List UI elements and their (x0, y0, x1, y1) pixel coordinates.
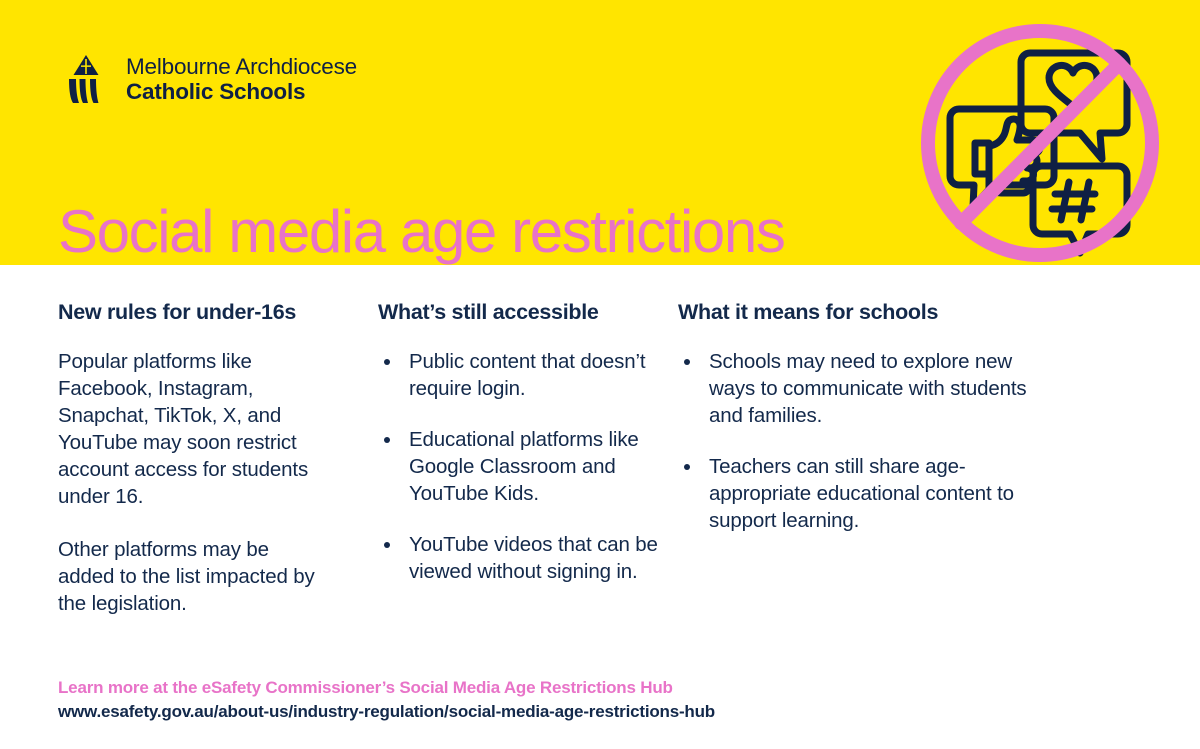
column-heading: What’s still accessible (378, 300, 660, 326)
column-still-accessible: What’s still accessible Public content t… (340, 300, 670, 585)
bullet-list: Schools may need to explore new ways to … (678, 348, 1030, 534)
column-paragraph: Popular platforms like Facebook, Instagr… (58, 348, 330, 510)
list-item-text: YouTube videos that can be viewed withou… (409, 533, 658, 583)
list-item: Teachers can still share age-appropriate… (678, 453, 1030, 534)
no-social-media-illustration-svg (913, 18, 1171, 276)
list-item: Schools may need to explore new ways to … (678, 348, 1030, 429)
list-item: YouTube videos that can be viewed withou… (378, 531, 660, 585)
no-social-media-illustration (913, 18, 1171, 276)
bullet-dot-icon (684, 464, 690, 470)
brand-logo-lockup: Melbourne Archdiocese Catholic Schools (60, 53, 357, 105)
macs-flame-m-logo-icon (60, 53, 112, 105)
list-item-text: Public content that doesn’t require logi… (409, 350, 645, 400)
bullet-dot-icon (384, 542, 390, 548)
page-title: Social media age restrictions (58, 200, 784, 263)
column-heading: New rules for under-16s (58, 300, 330, 326)
list-item: Public content that doesn’t require logi… (378, 348, 660, 402)
prohibition-circle-slash (928, 31, 1152, 255)
column-heading: What it means for schools (678, 300, 1030, 326)
bullet-dot-icon (384, 359, 390, 365)
list-item-text: Teachers can still share age-appropriate… (709, 455, 1014, 532)
list-item-text: Schools may need to explore new ways to … (709, 350, 1027, 427)
footer-lead-text: Learn more at the eSafety Commissioner’s… (58, 676, 715, 701)
speech-bubble-hashtag-icon (1033, 166, 1127, 253)
content-columns: New rules for under-16s Popular platform… (0, 300, 1200, 617)
bullet-dot-icon (384, 437, 390, 443)
speech-bubble-thumbs-up-icon (950, 109, 1054, 207)
footer: Learn more at the eSafety Commissioner’s… (58, 676, 715, 725)
list-item-text: Educational platforms like Google Classr… (409, 428, 639, 505)
column-new-rules: New rules for under-16s Popular platform… (0, 300, 340, 617)
bullet-dot-icon (684, 359, 690, 365)
brand-organisation-line2: Catholic Schools (126, 79, 357, 104)
column-means-for-schools: What it means for schools Schools may ne… (670, 300, 1040, 534)
social-media-age-restrictions-poster: Melbourne Archdiocese Catholic Schools S… (0, 0, 1200, 749)
list-item: Educational platforms like Google Classr… (378, 426, 660, 507)
bullet-list: Public content that doesn’t require logi… (378, 348, 660, 585)
column-paragraph: Other platforms may be added to the list… (58, 536, 330, 617)
footer-url-link[interactable]: www.esafety.gov.au/about-us/industry-reg… (58, 700, 715, 725)
brand-organisation-line1: Melbourne Archdiocese (126, 54, 357, 79)
